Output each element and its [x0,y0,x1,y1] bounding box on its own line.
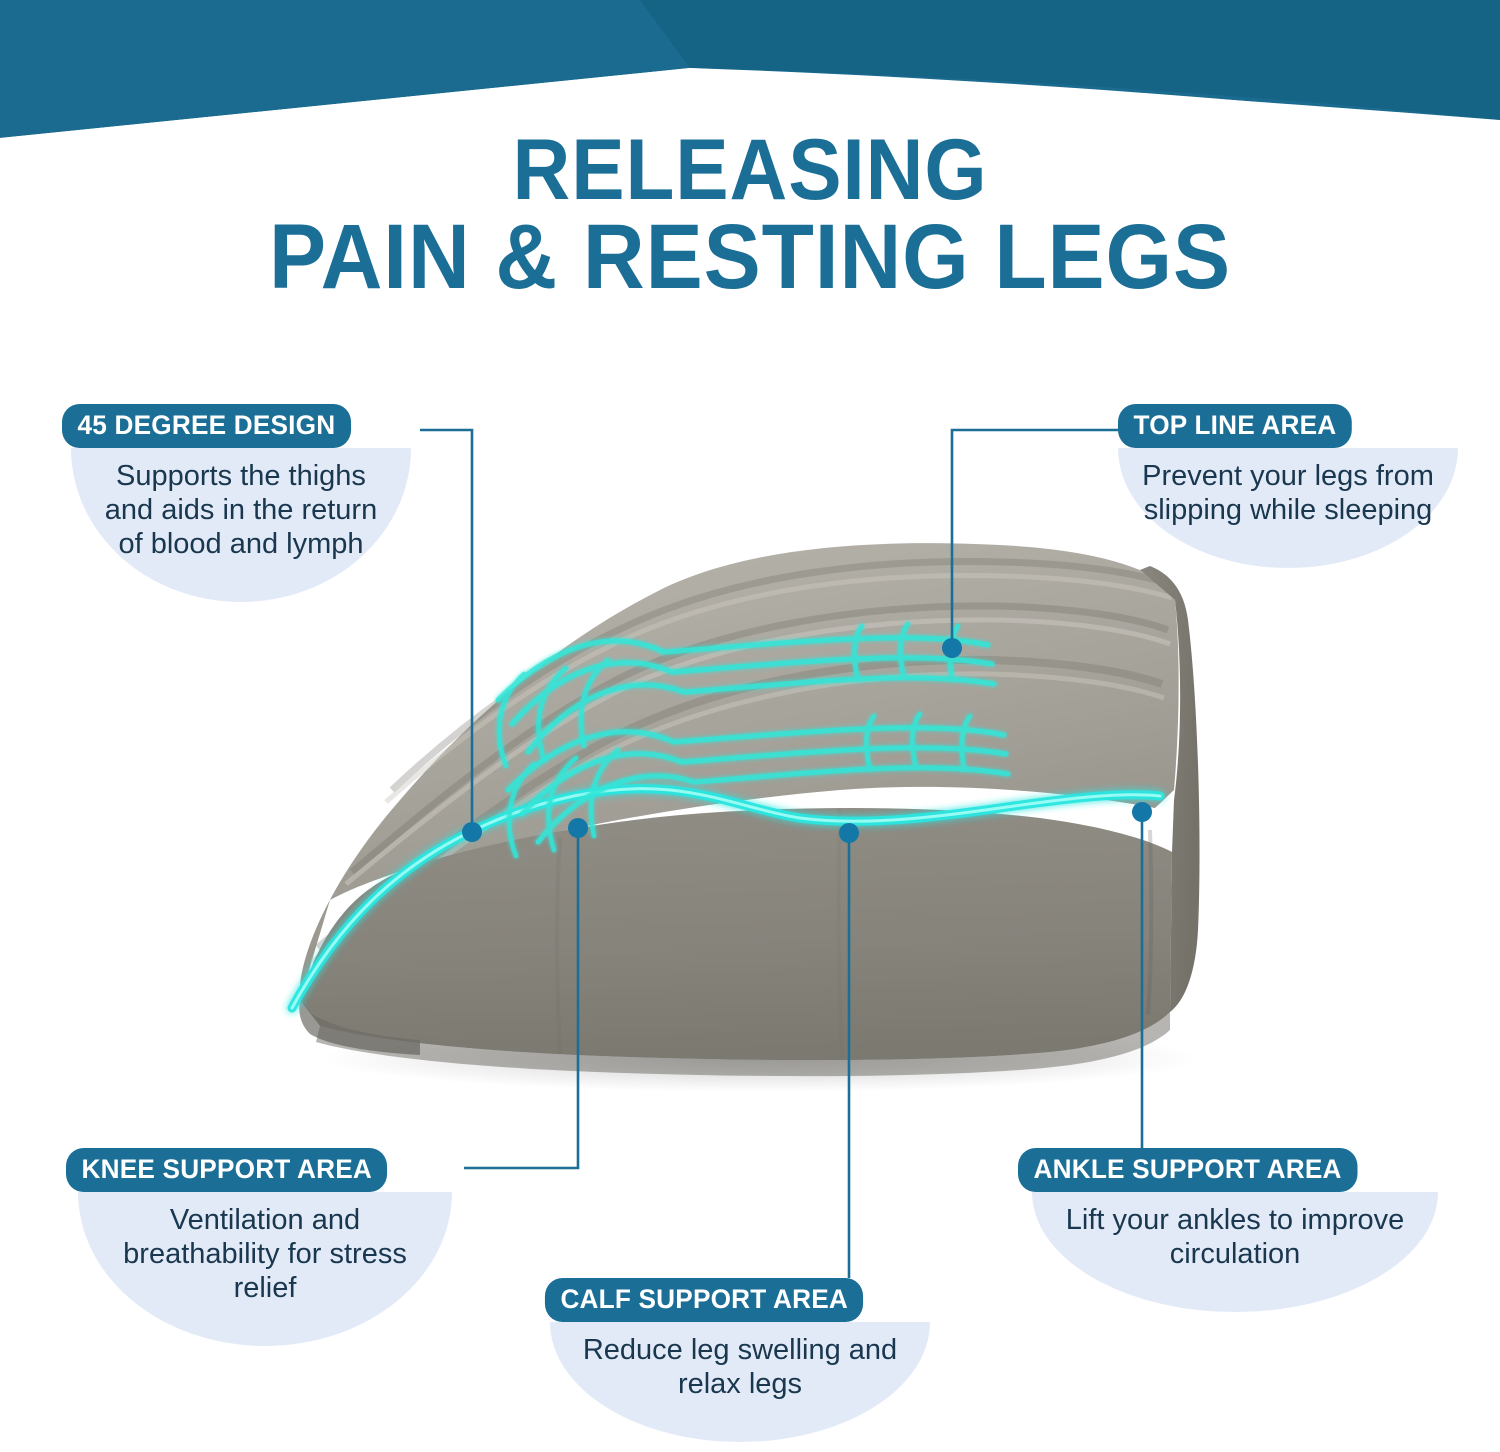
title-line-2: PAIN & RESTING LEGS [53,212,1448,302]
callout-45-degree-design[interactable]: 45 DEGREE DESIGN Supports the thighs and… [62,404,420,602]
leader-line-45-degree-design [420,430,472,826]
callout-label-calf-support-area: CALF SUPPORT AREA [545,1278,864,1322]
leader-line-knee-support-area [464,834,578,1168]
callout-description-top-line-area: Prevent your legs from slipping while sl… [1118,448,1458,568]
callout-knee-support-area[interactable]: KNEE SUPPORT AREA Ventilation and breath… [66,1148,464,1346]
pointer-dot-45-degree-design [462,822,482,842]
callout-label-ankle-support-area: ANKLE SUPPORT AREA [1018,1148,1357,1192]
pointer-dot-ankle-support-area [1132,802,1152,822]
callout-calf-support-area[interactable]: CALF SUPPORT AREA Reduce leg swelling an… [540,1278,940,1442]
callout-description-knee-support-area: Ventilation and breathability for stress… [78,1192,452,1346]
callout-description-45-degree-design: Supports the thighs and aids in the retu… [71,448,411,602]
callout-label-45-degree-design: 45 DEGREE DESIGN [62,404,351,448]
pointer-dot-knee-support-area [568,818,588,838]
pointer-dot-calf-support-area [839,823,859,843]
infographic-page: RELEASING PAIN & RESTING LEGS [0,0,1500,1452]
callout-ankle-support-area[interactable]: ANKLE SUPPORT AREA Lift your ankles to i… [1018,1148,1450,1312]
callout-top-line-area[interactable]: TOP LINE AREA Prevent your legs from sli… [1118,404,1458,568]
leader-line-top-line-area [952,430,1118,642]
callout-label-top-line-area: TOP LINE AREA [1118,404,1352,448]
title-line-1: RELEASING [53,128,1448,212]
pointer-dot-top-line-area [942,638,962,658]
callout-description-calf-support-area: Reduce leg swelling and relax legs [550,1322,930,1442]
page-title: RELEASING PAIN & RESTING LEGS [0,128,1500,302]
callout-label-knee-support-area: KNEE SUPPORT AREA [66,1148,388,1192]
callout-description-ankle-support-area: Lift your ankles to improve circulation [1032,1192,1438,1312]
